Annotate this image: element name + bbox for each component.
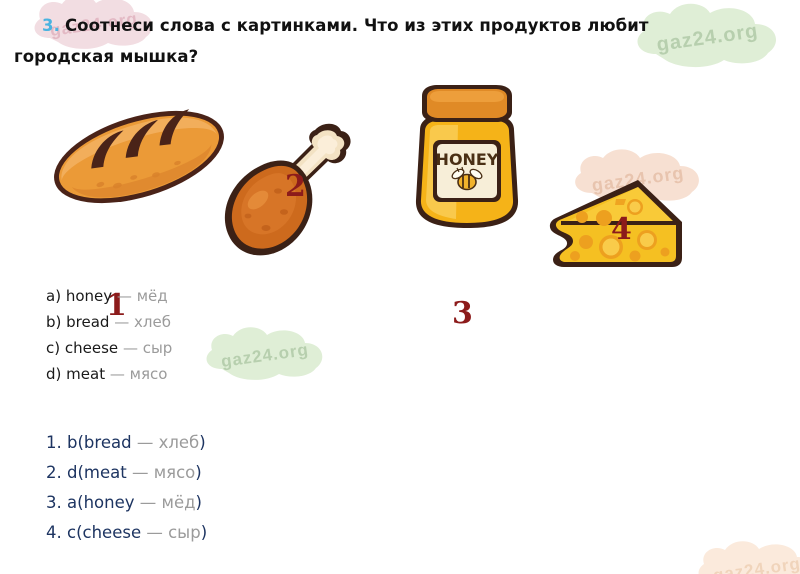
item-english: honey <box>66 287 112 305</box>
worksheet-page: gaz24.org gaz24.org gaz24.org gaz24.org … <box>0 0 800 574</box>
answer-dash: — <box>132 463 149 482</box>
answer-number: 3. <box>46 493 62 512</box>
answer-number: 4. <box>46 523 62 542</box>
answer-close-paren: ) <box>201 523 207 542</box>
answer-dash: — <box>140 493 157 512</box>
answer-english: meat <box>84 463 127 482</box>
answer-dash: — <box>137 433 154 452</box>
item-dash: — <box>110 365 125 383</box>
cloud-shape-icon <box>692 540 800 574</box>
answer-close-paren: ) <box>195 463 201 482</box>
answer-row: 3. a(honey — мёд) <box>46 488 207 518</box>
answer-letter: c <box>67 523 76 542</box>
watermark-text: gaz24.org <box>196 317 333 395</box>
list-item: c) cheese — сыр <box>46 335 172 361</box>
answer-russian: мясо <box>154 463 196 482</box>
item-dash: — <box>114 313 129 331</box>
answer-russian: мёд <box>162 493 196 512</box>
honey-jar-illustration: HONEY <box>406 84 528 236</box>
answer-letter: b <box>67 433 77 452</box>
bread-loaf-illustration <box>46 96 232 218</box>
list-item: b) bread — хлеб <box>46 309 172 335</box>
honey-jar-label-text: HONEY <box>436 150 499 169</box>
item-russian: мёд <box>137 287 168 305</box>
answer-english: honey <box>84 493 135 512</box>
item-dash: — <box>117 287 132 305</box>
answer-number: 1. <box>46 433 62 452</box>
answer-letter: a <box>67 493 77 512</box>
illustrations-row: 1 2 <box>0 78 800 268</box>
answer-english: cheese <box>83 523 142 542</box>
exercise-heading: 3.Соотнеси слова с картинками. Что из эт… <box>14 10 744 72</box>
cloud-shape-icon <box>200 326 330 386</box>
item-russian: сыр <box>143 339 173 357</box>
exercise-number: 3. <box>42 16 60 35</box>
watermark-text: gaz24.org <box>688 531 800 574</box>
watermark-peach-bottom: gaz24.org <box>692 540 800 574</box>
figure-number-2: 2 <box>285 172 306 202</box>
answer-row: 1. b(bread — хлеб) <box>46 428 207 458</box>
answer-row: 2. d(meat — мясо) <box>46 458 207 488</box>
item-english: cheese <box>65 339 118 357</box>
item-marker: d) <box>46 365 61 383</box>
item-russian: хлеб <box>134 313 171 331</box>
watermark-green-middle: gaz24.org <box>200 326 330 386</box>
item-english: meat <box>66 365 105 383</box>
item-dash: — <box>123 339 138 357</box>
exercise-instruction: Соотнеси слова с картинками. Что из этих… <box>14 16 649 66</box>
vocabulary-list: a) honey — мёд b) bread — хлеб c) cheese… <box>46 283 172 387</box>
answer-close-paren: ) <box>199 433 205 452</box>
answer-row: 4. c(cheese — сыр) <box>46 518 207 548</box>
item-marker: a) <box>46 287 61 305</box>
figure-number-4: 4 <box>611 215 632 245</box>
item-russian: мясо <box>130 365 168 383</box>
answer-number: 2. <box>46 463 62 482</box>
answer-russian: хлеб <box>159 433 200 452</box>
list-item: a) honey — мёд <box>46 283 172 309</box>
answer-letter: d <box>67 463 77 482</box>
item-english: bread <box>66 313 109 331</box>
list-item: d) meat — мясо <box>46 361 172 387</box>
item-marker: c) <box>46 339 60 357</box>
answer-russian: сыр <box>168 523 201 542</box>
answer-english: bread <box>84 433 132 452</box>
answer-close-paren: ) <box>196 493 202 512</box>
answer-dash: — <box>146 523 163 542</box>
figure-number-3: 3 <box>452 299 473 329</box>
item-marker: b) <box>46 313 61 331</box>
answers-list: 1. b(bread — хлеб) 2. d(meat — мясо) 3. … <box>46 428 207 548</box>
